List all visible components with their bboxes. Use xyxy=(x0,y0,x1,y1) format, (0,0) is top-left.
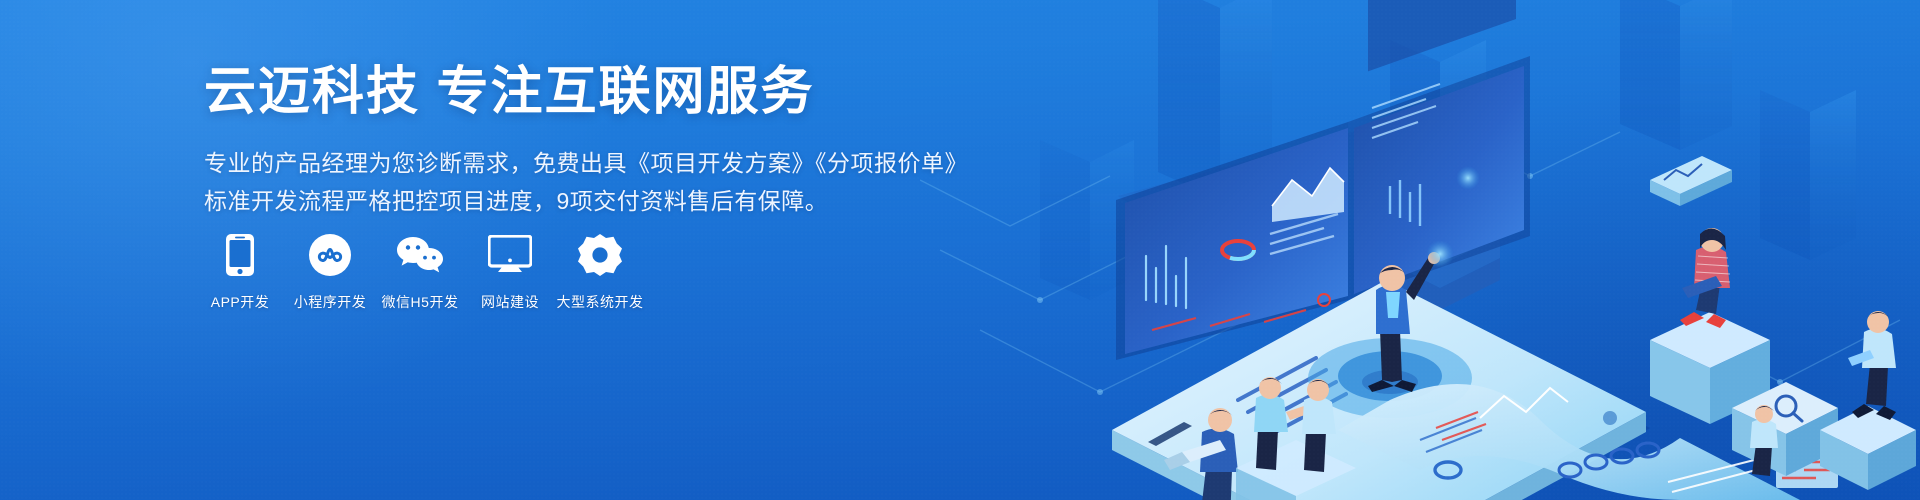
floating-chart-card xyxy=(1650,156,1732,206)
monitor-icon xyxy=(488,232,532,278)
service-item-wechat-h5[interactable]: 微信H5开发 xyxy=(384,232,456,312)
isometric-illustration xyxy=(920,0,1920,500)
banner-copy: 云迈科技 专注互联网服务 专业的产品经理为您诊断需求，免费出具《项目开发方案》《… xyxy=(204,62,924,220)
banner-subtitle: 专业的产品经理为您诊断需求，免费出具《项目开发方案》《分项报价单》 标准开发流程… xyxy=(204,145,924,220)
mobile-phone-icon xyxy=(225,232,255,278)
service-label: 小程序开发 xyxy=(294,292,367,312)
subtitle-line-1: 专业的产品经理为您诊断需求，免费出具《项目开发方案》《分项报价单》 xyxy=(204,145,924,182)
service-item-website[interactable]: 网站建设 xyxy=(474,232,546,312)
service-item-large-system[interactable]: 大型系统开发 xyxy=(564,232,636,312)
service-label: 网站建设 xyxy=(481,292,539,312)
gear-icon xyxy=(578,232,622,278)
service-list: APP开发 小程序开发 xyxy=(204,232,636,312)
mini-program-icon xyxy=(308,232,352,278)
page-title: 云迈科技 专注互联网服务 xyxy=(204,62,924,123)
service-label: APP开发 xyxy=(211,292,270,312)
hero-banner: 云迈科技 专注互联网服务 专业的产品经理为您诊断需求，免费出具《项目开发方案》《… xyxy=(0,0,1920,500)
wechat-icon xyxy=(396,232,444,278)
subtitle-line-2: 标准开发流程严格把控项目进度，9项交付资料售后有保障。 xyxy=(204,183,924,220)
service-item-mini-program[interactable]: 小程序开发 xyxy=(294,232,366,312)
person-with-tablet xyxy=(1820,311,1916,490)
service-label: 大型系统开发 xyxy=(557,292,644,312)
service-item-app[interactable]: APP开发 xyxy=(204,232,276,312)
woman-on-pedestal-laptop xyxy=(1650,228,1770,424)
service-label: 微信H5开发 xyxy=(382,292,459,312)
